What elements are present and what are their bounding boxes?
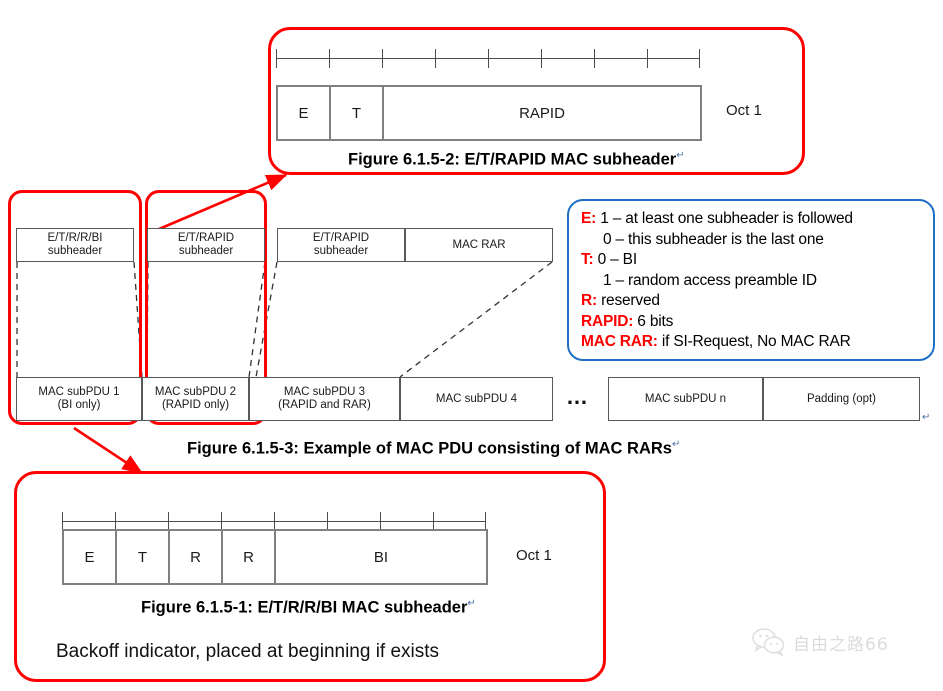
box-line-1: MAC subPDU 1	[38, 386, 119, 399]
legend-key-t: T:	[581, 251, 594, 268]
subpdu-box-1: MAC subPDU 1 (BI only)	[16, 377, 142, 421]
subheader-row: E/T/R/R/BI subheader E/T/RAPID subheader…	[16, 228, 553, 262]
ruler-tick	[382, 49, 383, 68]
legend-row: E: 1 – at least one subheader is followe…	[581, 209, 923, 230]
subheader-box-mac-rar: MAC RAR	[405, 228, 553, 262]
legend-text: 0 – BI	[598, 251, 637, 268]
subpdu-row: MAC subPDU 1 (BI only) MAC subPDU 2 (RAP…	[16, 377, 553, 421]
box-line-2: (RAPID only)	[162, 399, 229, 412]
pilcrow-mark: ↵	[467, 598, 475, 609]
caption-figure-6-1-5-3: Figure 6.1.5-3: Example of MAC PDU consi…	[187, 439, 680, 459]
legend-row: 1 – random access preamble ID	[581, 271, 923, 292]
legend-panel: E: 1 – at least one subheader is followe…	[567, 199, 935, 361]
subpdu-box-n: MAC subPDU n	[608, 377, 763, 421]
subheader-box-etrapid-1: E/T/RAPID subheader	[147, 228, 265, 262]
legend-row: 0 – this subheader is the last one	[581, 230, 923, 251]
field-e: E	[64, 531, 117, 583]
pilcrow-mark-tail: ↵	[922, 412, 930, 423]
legend-key-e: E:	[581, 210, 596, 227]
legend-text: 1 – at least one subheader is followed	[600, 210, 853, 227]
subpdu-box-4: MAC subPDU 4	[400, 377, 553, 421]
field-r-1: R	[170, 531, 223, 583]
box-line-2: subheader	[179, 245, 233, 258]
wechat-icon	[752, 628, 786, 656]
subheader-box-etrapid-2: E/T/RAPID subheader	[277, 228, 405, 262]
subpdu-box-2: MAC subPDU 2 (RAPID only)	[142, 377, 249, 421]
caption-text: Figure 6.1.5-1: E/T/R/R/BI MAC subheader	[141, 599, 467, 617]
legend-row: MAC RAR: if SI-Request, No MAC RAR	[581, 332, 923, 353]
ellipsis-separator: …	[566, 384, 590, 410]
box-line-1: MAC subPDU 4	[436, 393, 517, 406]
legend-key-rapid: RAPID:	[581, 313, 633, 330]
octet-field-row-bottom: E T R R BI	[62, 529, 488, 581]
box-line-2: subheader	[314, 245, 368, 258]
field-bi: BI	[276, 531, 486, 583]
caption-text: Figure 6.1.5-3: Example of MAC PDU consi…	[187, 440, 672, 458]
box-line-2: (RAPID and RAR)	[278, 399, 371, 412]
ruler-tick	[276, 49, 277, 68]
field-rapid: RAPID	[384, 87, 700, 139]
dashed-connector-4	[400, 262, 552, 377]
backoff-note: Backoff indicator, placed at beginning i…	[56, 641, 439, 663]
box-line-1: MAC subPDU n	[645, 393, 726, 406]
box-line-1: Padding (opt)	[807, 393, 876, 406]
ruler-tick	[329, 49, 330, 68]
legend-row: RAPID: 6 bits	[581, 312, 923, 333]
diagram-canvas: E T RAPID Oct 1 Figure 6.1.5-2: E/T/RAPI…	[0, 0, 943, 691]
box-line-2: (BI only)	[58, 399, 101, 412]
pilcrow-mark: ↵	[672, 439, 680, 450]
legend-text: 6 bits	[637, 313, 673, 330]
ruler-tick	[647, 49, 648, 68]
ruler-tick	[699, 49, 700, 68]
box-line-1: MAC subPDU 3	[284, 386, 365, 399]
ruler-tick	[488, 49, 489, 68]
caption-text: Figure 6.1.5-2: E/T/RAPID MAC subheader	[348, 151, 676, 169]
legend-key-r: R:	[581, 292, 597, 309]
legend-text: reserved	[601, 292, 660, 309]
bit-ruler-top	[276, 49, 700, 69]
tail-pdu-row: MAC subPDU n Padding (opt)	[608, 377, 920, 421]
ruler-tick	[435, 49, 436, 68]
field-r-2: R	[223, 531, 276, 583]
octet-field-row-top: E T RAPID	[276, 85, 702, 137]
legend-key-mac-rar: MAC RAR:	[581, 333, 658, 350]
subheader-box-etrrbi: E/T/R/R/BI subheader	[16, 228, 134, 262]
subpdu-box-3: MAC subPDU 3 (RAPID and RAR)	[249, 377, 400, 421]
field-e: E	[278, 87, 331, 139]
watermark: 自由之路66	[752, 628, 889, 656]
box-line-1: E/T/RAPID	[178, 232, 234, 245]
field-t: T	[117, 531, 170, 583]
padding-box: Padding (opt)	[763, 377, 920, 421]
octet-label-top: Oct 1	[726, 102, 762, 119]
box-line-2: subheader	[48, 245, 102, 258]
box-line-1: MAC subPDU 2	[155, 386, 236, 399]
arrow-to-bottom-figure	[74, 428, 142, 473]
legend-row: T: 0 – BI	[581, 250, 923, 271]
legend-text: 0 – this subheader is the last one	[603, 231, 824, 248]
legend-text: if SI-Request, No MAC RAR	[662, 333, 851, 350]
watermark-text: 自由之路66	[793, 630, 889, 655]
box-line-1: MAC RAR	[452, 239, 505, 252]
pilcrow-mark: ↵	[676, 150, 684, 161]
caption-figure-6-1-5-1: Figure 6.1.5-1: E/T/R/R/BI MAC subheader…	[141, 598, 476, 618]
legend-row: R: reserved	[581, 291, 923, 312]
octet-label-bottom: Oct 1	[516, 547, 552, 564]
box-line-1: E/T/R/R/BI	[48, 232, 103, 245]
ruler-tick	[594, 49, 595, 68]
field-t: T	[331, 87, 384, 139]
legend-text: 1 – random access preamble ID	[603, 272, 817, 289]
ruler-tick	[541, 49, 542, 68]
caption-figure-6-1-5-2: Figure 6.1.5-2: E/T/RAPID MAC subheader↵	[348, 150, 685, 170]
box-line-1: E/T/RAPID	[313, 232, 369, 245]
